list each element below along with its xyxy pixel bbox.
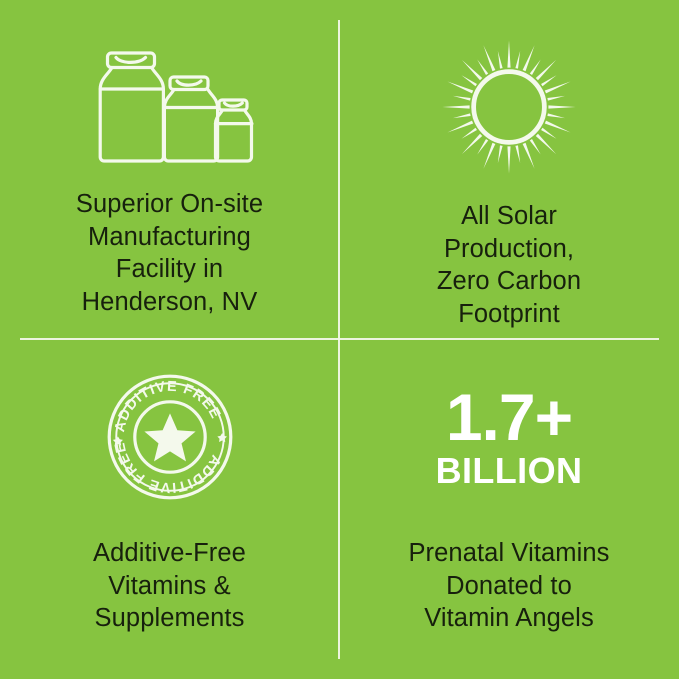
- panel-caption: Additive-Free Vitamins & Supplements: [93, 537, 246, 635]
- panel-solar: All Solar Production, Zero Carbon Footpr…: [339, 0, 679, 339]
- stat-unit: BILLION: [436, 453, 583, 489]
- additive-free-badge-icon: ADDITIVE FREE ADDITIVE FREE: [106, 367, 234, 507]
- sun-icon: [441, 38, 577, 176]
- panel-caption: Superior On-site Manufacturing Facility …: [76, 188, 263, 319]
- panel-caption: Prenatal Vitamins Donated to Vitamin Ang…: [408, 537, 609, 635]
- panel-donation: 1.7+ BILLION Prenatal Vitamins Donated t…: [339, 339, 679, 679]
- feature-grid: Superior On-site Manufacturing Facility …: [0, 0, 679, 679]
- panel-caption: All Solar Production, Zero Carbon Footpr…: [437, 200, 581, 331]
- supplement-bottles-icon: [82, 46, 257, 166]
- donation-stat: 1.7+ BILLION: [436, 367, 583, 507]
- panel-additive-free: ADDITIVE FREE ADDITIVE FREE Additive-Fre…: [0, 339, 339, 679]
- stat-number: 1.7+: [446, 385, 572, 450]
- panel-manufacturing: Superior On-site Manufacturing Facility …: [0, 0, 339, 339]
